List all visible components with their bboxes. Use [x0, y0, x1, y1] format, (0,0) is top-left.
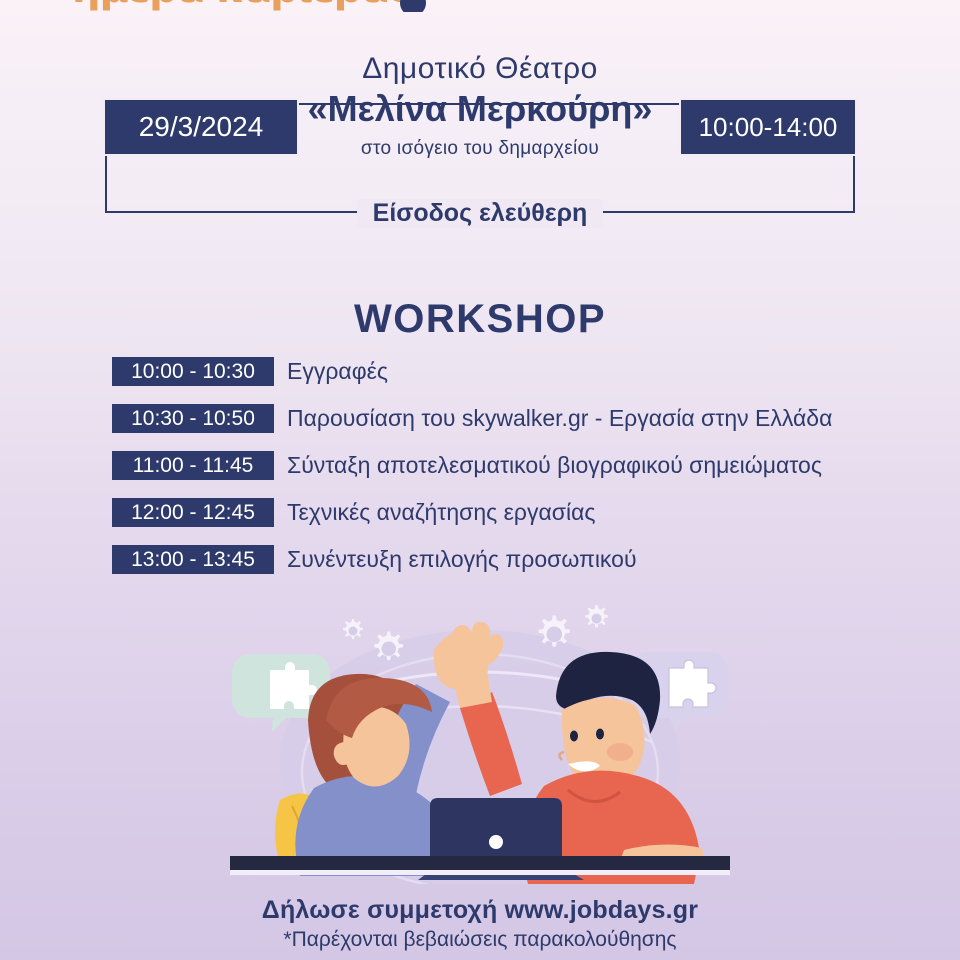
free-entry-label: Είσοδος ελεύθερη: [357, 199, 604, 228]
free-entry-row: Είσοδος ελεύθερη: [0, 197, 960, 229]
schedule-time-badge: 13:00 - 13:45: [112, 545, 274, 574]
footer-note: *Παρέχονται βεβαιώσεις παρακολούθησης: [0, 928, 960, 952]
footer-cta: Δήλωσε συμμετοχή www.jobdays.gr: [0, 896, 960, 925]
schedule-session-label: Εγγραφές: [287, 358, 388, 385]
venue-prefix: Δημοτικό Θέατρο: [0, 52, 960, 86]
gear-icon: [343, 619, 363, 639]
circle-logo-mark-icon: [400, 0, 426, 12]
logo-strip: ημέρα καριέρας: [0, 0, 960, 12]
schedule-time-badge: 10:00 - 10:30: [112, 357, 274, 386]
gear-icon: [539, 616, 570, 647]
schedule-session-label: Σύνταξη αποτελεσματικού βιογραφικού σημε…: [287, 452, 822, 479]
schedule-session-label: Τεχνικές αναζήτησης εργασίας: [287, 499, 595, 526]
date-badge: 29/3/2024: [105, 100, 297, 154]
schedule-row: 10:00 - 10:30 Εγγραφές: [112, 357, 912, 386]
gear-icon: [374, 631, 403, 660]
schedule-row: 13:00 - 13:45 Συνέντευξη επιλογής προσωπ…: [112, 545, 912, 574]
poster-canvas: ημέρα καριέρας Δημοτικό Θέατρο «Μελίνα Μ…: [0, 0, 960, 960]
schedule-row: 12:00 - 12:45 Τεχνικές αναζήτησης εργασί…: [112, 498, 912, 527]
gear-icon: [585, 605, 607, 627]
footer: Δήλωσε συμμετοχή www.jobdays.gr *Παρέχον…: [0, 896, 960, 952]
logo-wordmark: ημέρα καριέρας: [72, 0, 410, 12]
workshop-schedule: 10:00 - 10:30 Εγγραφές 10:30 - 10:50 Παρ…: [112, 357, 912, 592]
illustration-high-five: [222, 592, 738, 884]
schedule-row: 11:00 - 11:45 Σύνταξη αποτελεσματικού βι…: [112, 451, 912, 480]
schedule-row: 10:30 - 10:50 Παρουσίαση του skywalker.g…: [112, 404, 912, 433]
schedule-time-badge: 12:00 - 12:45: [112, 498, 274, 527]
schedule-session-label: Παρουσίαση του skywalker.gr - Εργασία στ…: [287, 405, 832, 432]
desk-bar: [230, 856, 730, 870]
schedule-time-badge: 11:00 - 11:45: [112, 451, 274, 480]
workshop-title: WORKSHOP: [0, 297, 960, 342]
time-badge: 10:00-14:00: [681, 100, 855, 154]
schedule-time-badge: 10:30 - 10:50: [112, 404, 274, 433]
schedule-session-label: Συνέντευξη επιλογής προσωπικού: [287, 546, 637, 573]
